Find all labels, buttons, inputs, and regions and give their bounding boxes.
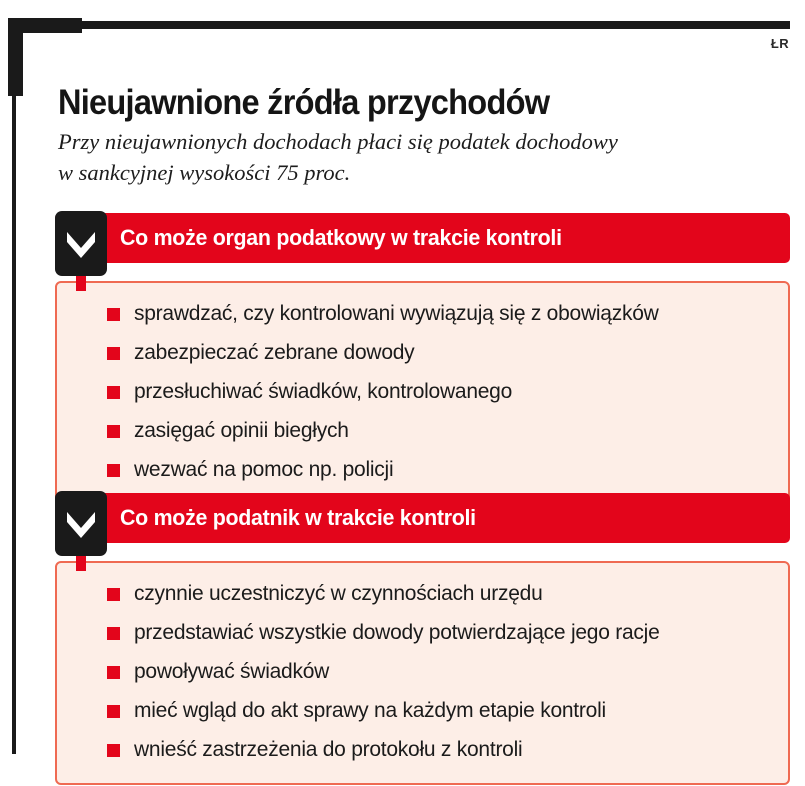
list-item-label: czynnie uczestniczyć w czynnościach urzę…: [134, 582, 543, 605]
list-item: przedstawiać wszystkie dowody potwierdza…: [107, 618, 768, 648]
connector-stem: [76, 555, 86, 571]
bullet-square-icon: [107, 588, 120, 601]
section-header: Co może podatnik w trakcie kontroli: [55, 493, 790, 543]
list-item-label: sprawdzać, czy kontrolowani wywiązują si…: [134, 302, 659, 325]
bullet-square-icon: [107, 464, 120, 477]
list-item-label: mieć wgląd do akt sprawy na każdym etapi…: [134, 699, 606, 722]
list-item: wnieść zastrzeżenia do protokołu z kontr…: [107, 735, 768, 765]
bullet-square-icon: [107, 666, 120, 679]
credit-mark: ŁR: [771, 36, 789, 51]
bullet-list: sprawdzać, czy kontrolowani wywiązują si…: [107, 299, 768, 485]
list-item-label: przedstawiać wszystkie dowody potwierdza…: [134, 621, 660, 644]
list-item: mieć wgląd do akt sprawy na każdym etapi…: [107, 696, 768, 726]
frame-top-rule: [82, 21, 790, 29]
bullet-square-icon: [107, 627, 120, 640]
bullet-square-icon: [107, 425, 120, 438]
page-title: Nieujawnione źródła przychodów: [58, 83, 709, 123]
list-item: czynnie uczestniczyć w czynnościach urzę…: [107, 579, 768, 609]
section-header: Co może organ podatkowy w trakcie kontro…: [55, 213, 790, 263]
bullet-list: czynnie uczestniczyć w czynnościach urzę…: [107, 579, 768, 765]
list-item-label: zasięgać opinii biegłych: [134, 419, 349, 442]
list-item: zabezpieczać zebrane dowody: [107, 338, 768, 368]
frame-left-rule: [12, 94, 16, 754]
bullet-square-icon: [107, 705, 120, 718]
list-item: zasięgać opinii biegłych: [107, 416, 768, 446]
chevron-down-icon: [55, 491, 107, 556]
list-item: wezwać na pomoc np. policji: [107, 455, 768, 485]
section-header-bar: Co może podatnik w trakcie kontroli: [55, 493, 790, 543]
list-item: przesłuchiwać świadków, kontrolowanego: [107, 377, 768, 407]
bullet-square-icon: [107, 744, 120, 757]
standfirst-line-2: w sankcyjnej wysokości 75 proc.: [58, 157, 773, 188]
list-item-label: wnieść zastrzeżenia do protokołu z kontr…: [134, 738, 522, 761]
section-title: Co może organ podatkowy w trakcie kontro…: [120, 225, 562, 251]
section-organ-podatkowy: Co może organ podatkowy w trakcie kontro…: [55, 213, 790, 505]
list-item-label: powoływać świadków: [134, 660, 329, 683]
connector-stem: [76, 275, 86, 291]
standfirst-line-1: Przy nieujawnionych dochodach płaci się …: [58, 126, 773, 157]
section-body: czynnie uczestniczyć w czynnościach urzę…: [55, 561, 790, 785]
chevron-down-icon: [55, 211, 107, 276]
infographic-page: { "meta": { "credit": "ŁR", "colors": { …: [0, 0, 805, 786]
list-item: sprawdzać, czy kontrolowani wywiązują si…: [107, 299, 768, 329]
bullet-square-icon: [107, 347, 120, 360]
list-item: powoływać świadków: [107, 657, 768, 687]
section-body: sprawdzać, czy kontrolowani wywiązują si…: [55, 281, 790, 505]
list-item-label: przesłuchiwać świadków, kontrolowanego: [134, 380, 512, 403]
bullet-square-icon: [107, 386, 120, 399]
frame-corner-vertical: [8, 18, 23, 96]
section-header-bar: Co może organ podatkowy w trakcie kontro…: [55, 213, 790, 263]
section-title: Co może podatnik w trakcie kontroli: [120, 505, 476, 531]
bullet-square-icon: [107, 308, 120, 321]
section-podatnik: Co może podatnik w trakcie kontroli czyn…: [55, 493, 790, 785]
list-item-label: wezwać na pomoc np. policji: [134, 458, 393, 481]
list-item-label: zabezpieczać zebrane dowody: [134, 341, 414, 364]
standfirst: Przy nieujawnionych dochodach płaci się …: [58, 126, 773, 188]
